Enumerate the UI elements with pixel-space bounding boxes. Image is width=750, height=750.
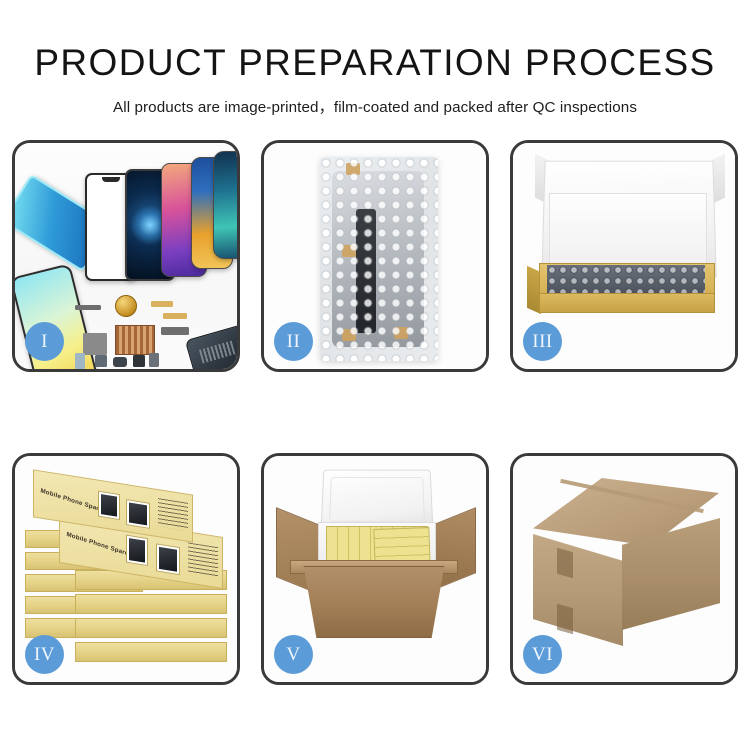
box-front-panel xyxy=(539,293,715,313)
part-small-5 xyxy=(75,353,85,369)
box-window-top-2 xyxy=(126,499,150,529)
step-badge-6: VI xyxy=(523,635,562,674)
part-flex-cable xyxy=(83,333,107,355)
step-badge-2: II xyxy=(274,322,313,361)
step-panel-4: Mobile Phone Spare Parts Mobile Phone Sp… xyxy=(12,453,240,685)
step-panel-6: VI xyxy=(510,453,738,685)
part-strip-4 xyxy=(161,327,189,335)
step-panel-1: I xyxy=(12,140,240,372)
bubble-texture-overlay xyxy=(320,157,438,361)
stacked-box-r3 xyxy=(75,618,227,638)
part-strip-3 xyxy=(163,313,187,319)
step-panel-2: II xyxy=(261,140,489,372)
carton-front-panel xyxy=(294,566,454,638)
process-steps-grid: I II xyxy=(12,140,738,685)
step-badge-4: IV xyxy=(25,635,64,674)
chip-array xyxy=(115,325,155,355)
part-small-3 xyxy=(133,355,145,367)
step-badge-3: III xyxy=(523,322,562,361)
carton-left-face xyxy=(533,534,623,646)
phone-back-housing xyxy=(185,320,240,372)
header: PRODUCT PREPARATION PROCESS All products… xyxy=(0,0,750,117)
foam-box-lid xyxy=(321,470,434,530)
part-small-4 xyxy=(149,353,159,367)
spare-parts-cluster xyxy=(75,293,240,372)
part-strip-1 xyxy=(75,305,101,310)
page-subtitle: All products are image-printed，film-coat… xyxy=(0,95,750,117)
step-badge-5: V xyxy=(274,635,313,674)
stacked-box-r4 xyxy=(75,642,227,662)
bubble-padding-layer xyxy=(547,265,705,295)
box-spec-lines-top xyxy=(158,498,188,531)
box-window-front-1 xyxy=(126,535,148,566)
step-panel-3: III xyxy=(510,140,738,372)
gold-component xyxy=(115,295,137,317)
carton-tape-upper xyxy=(557,548,573,579)
box-window-top-1 xyxy=(98,491,120,520)
teal-gradient-phone xyxy=(213,151,240,259)
product-preparation-process-page: PRODUCT PREPARATION PROCESS All products… xyxy=(0,0,750,750)
step-panel-5: V xyxy=(261,453,489,685)
part-small-2 xyxy=(113,357,127,367)
step-badge-1: I xyxy=(25,322,64,361)
box-window-front-2 xyxy=(156,543,180,575)
stacked-box-r2 xyxy=(75,594,227,614)
bubble-wrap-sleeve xyxy=(320,157,438,361)
page-title: PRODUCT PREPARATION PROCESS xyxy=(0,44,750,83)
box-spec-lines-front xyxy=(188,542,218,577)
part-strip-2 xyxy=(151,301,173,307)
box-foam-sheet xyxy=(549,193,707,265)
carton-tape-lower xyxy=(557,604,573,635)
part-small-1 xyxy=(95,355,107,367)
